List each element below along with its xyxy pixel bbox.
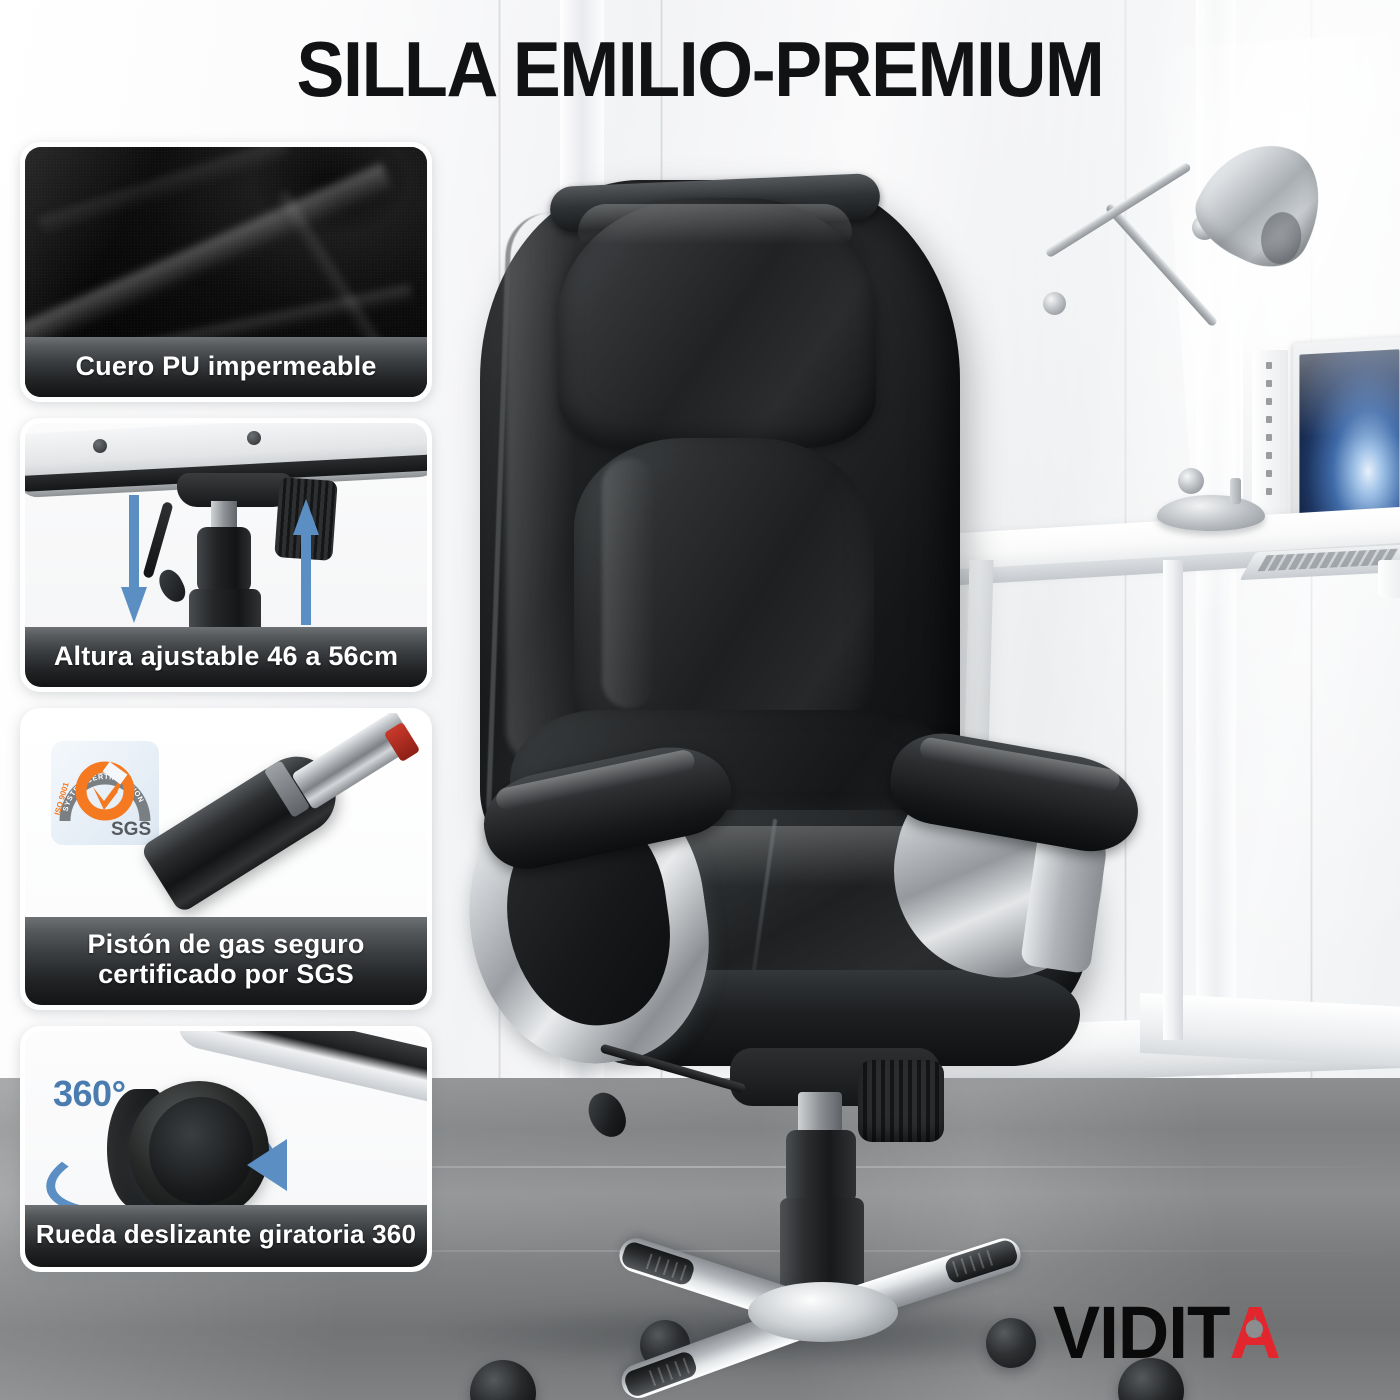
chair-tension-knob (858, 1060, 944, 1142)
mug (1378, 560, 1400, 598)
gas-cylinder-upper (197, 527, 251, 593)
sgs-label: SGS (111, 819, 151, 840)
leather-texture-image: Cuero PU impermeable (25, 147, 427, 397)
office-chair (430, 170, 1210, 1400)
caster-wheel-image: 360° Rueda deslizante giratoria 360 (25, 1031, 427, 1267)
brand-logo: VIDITA (1053, 1290, 1280, 1375)
feature-caption: Pistón de gas seguro certificado por SGS (25, 917, 427, 1005)
arrow-up-icon (293, 499, 319, 625)
brand-logo-text: VIDIT (1053, 1291, 1230, 1374)
feature-panel-height[interactable]: Altura ajustable 46 a 56cm (20, 418, 432, 692)
feature-caption-line2: certificado por SGS (98, 959, 354, 989)
feature-panel-list: Cuero PU impermeable (20, 142, 432, 1288)
height-lever (142, 501, 173, 579)
feature-caption: Altura ajustable 46 a 56cm (25, 627, 427, 687)
chair-base-hub (748, 1282, 898, 1342)
brand-logo-accent-letter: A (1229, 1290, 1279, 1375)
feature-caption: Cuero PU impermeable (25, 337, 427, 397)
chair-gas-cylinder-upper (786, 1130, 856, 1204)
document-holder (1252, 350, 1288, 530)
gas-piston-image: SYSTEM CERTIFICATION ISO 9001 SGS (25, 713, 427, 1005)
lamp-stub (1230, 478, 1241, 504)
page-title: SILLA EMILIO-PREMIUM (56, 24, 1344, 115)
rotation-arrow-icon (247, 1139, 287, 1191)
sgs-certification-badge: SYSTEM CERTIFICATION ISO 9001 SGS (51, 741, 159, 845)
height-adjust-image: Altura ajustable 46 a 56cm (25, 423, 427, 687)
arrow-down-icon (121, 495, 147, 623)
product-marketing-image: SILLA EMILIO-PREMIUM Cuero PU impermeabl… (0, 0, 1400, 1400)
feature-panel-piston[interactable]: SYSTEM CERTIFICATION ISO 9001 SGS (20, 708, 432, 1010)
feature-panel-caster[interactable]: 360° Rueda deslizante giratoria 360 (20, 1026, 432, 1272)
feature-panel-leather[interactable]: Cuero PU impermeable (20, 142, 432, 402)
chair-caster-wheel (986, 1318, 1036, 1368)
feature-caption-line1: Pistón de gas seguro (87, 929, 364, 959)
rotation-degree-label: 360° (53, 1073, 125, 1115)
chair-lever-handle (582, 1087, 632, 1143)
feature-caption: Rueda deslizante giratoria 360 (25, 1205, 427, 1267)
lever-handle (155, 566, 190, 606)
chair-caster-wheel (470, 1360, 536, 1400)
chair-headrest-pad (558, 198, 876, 448)
